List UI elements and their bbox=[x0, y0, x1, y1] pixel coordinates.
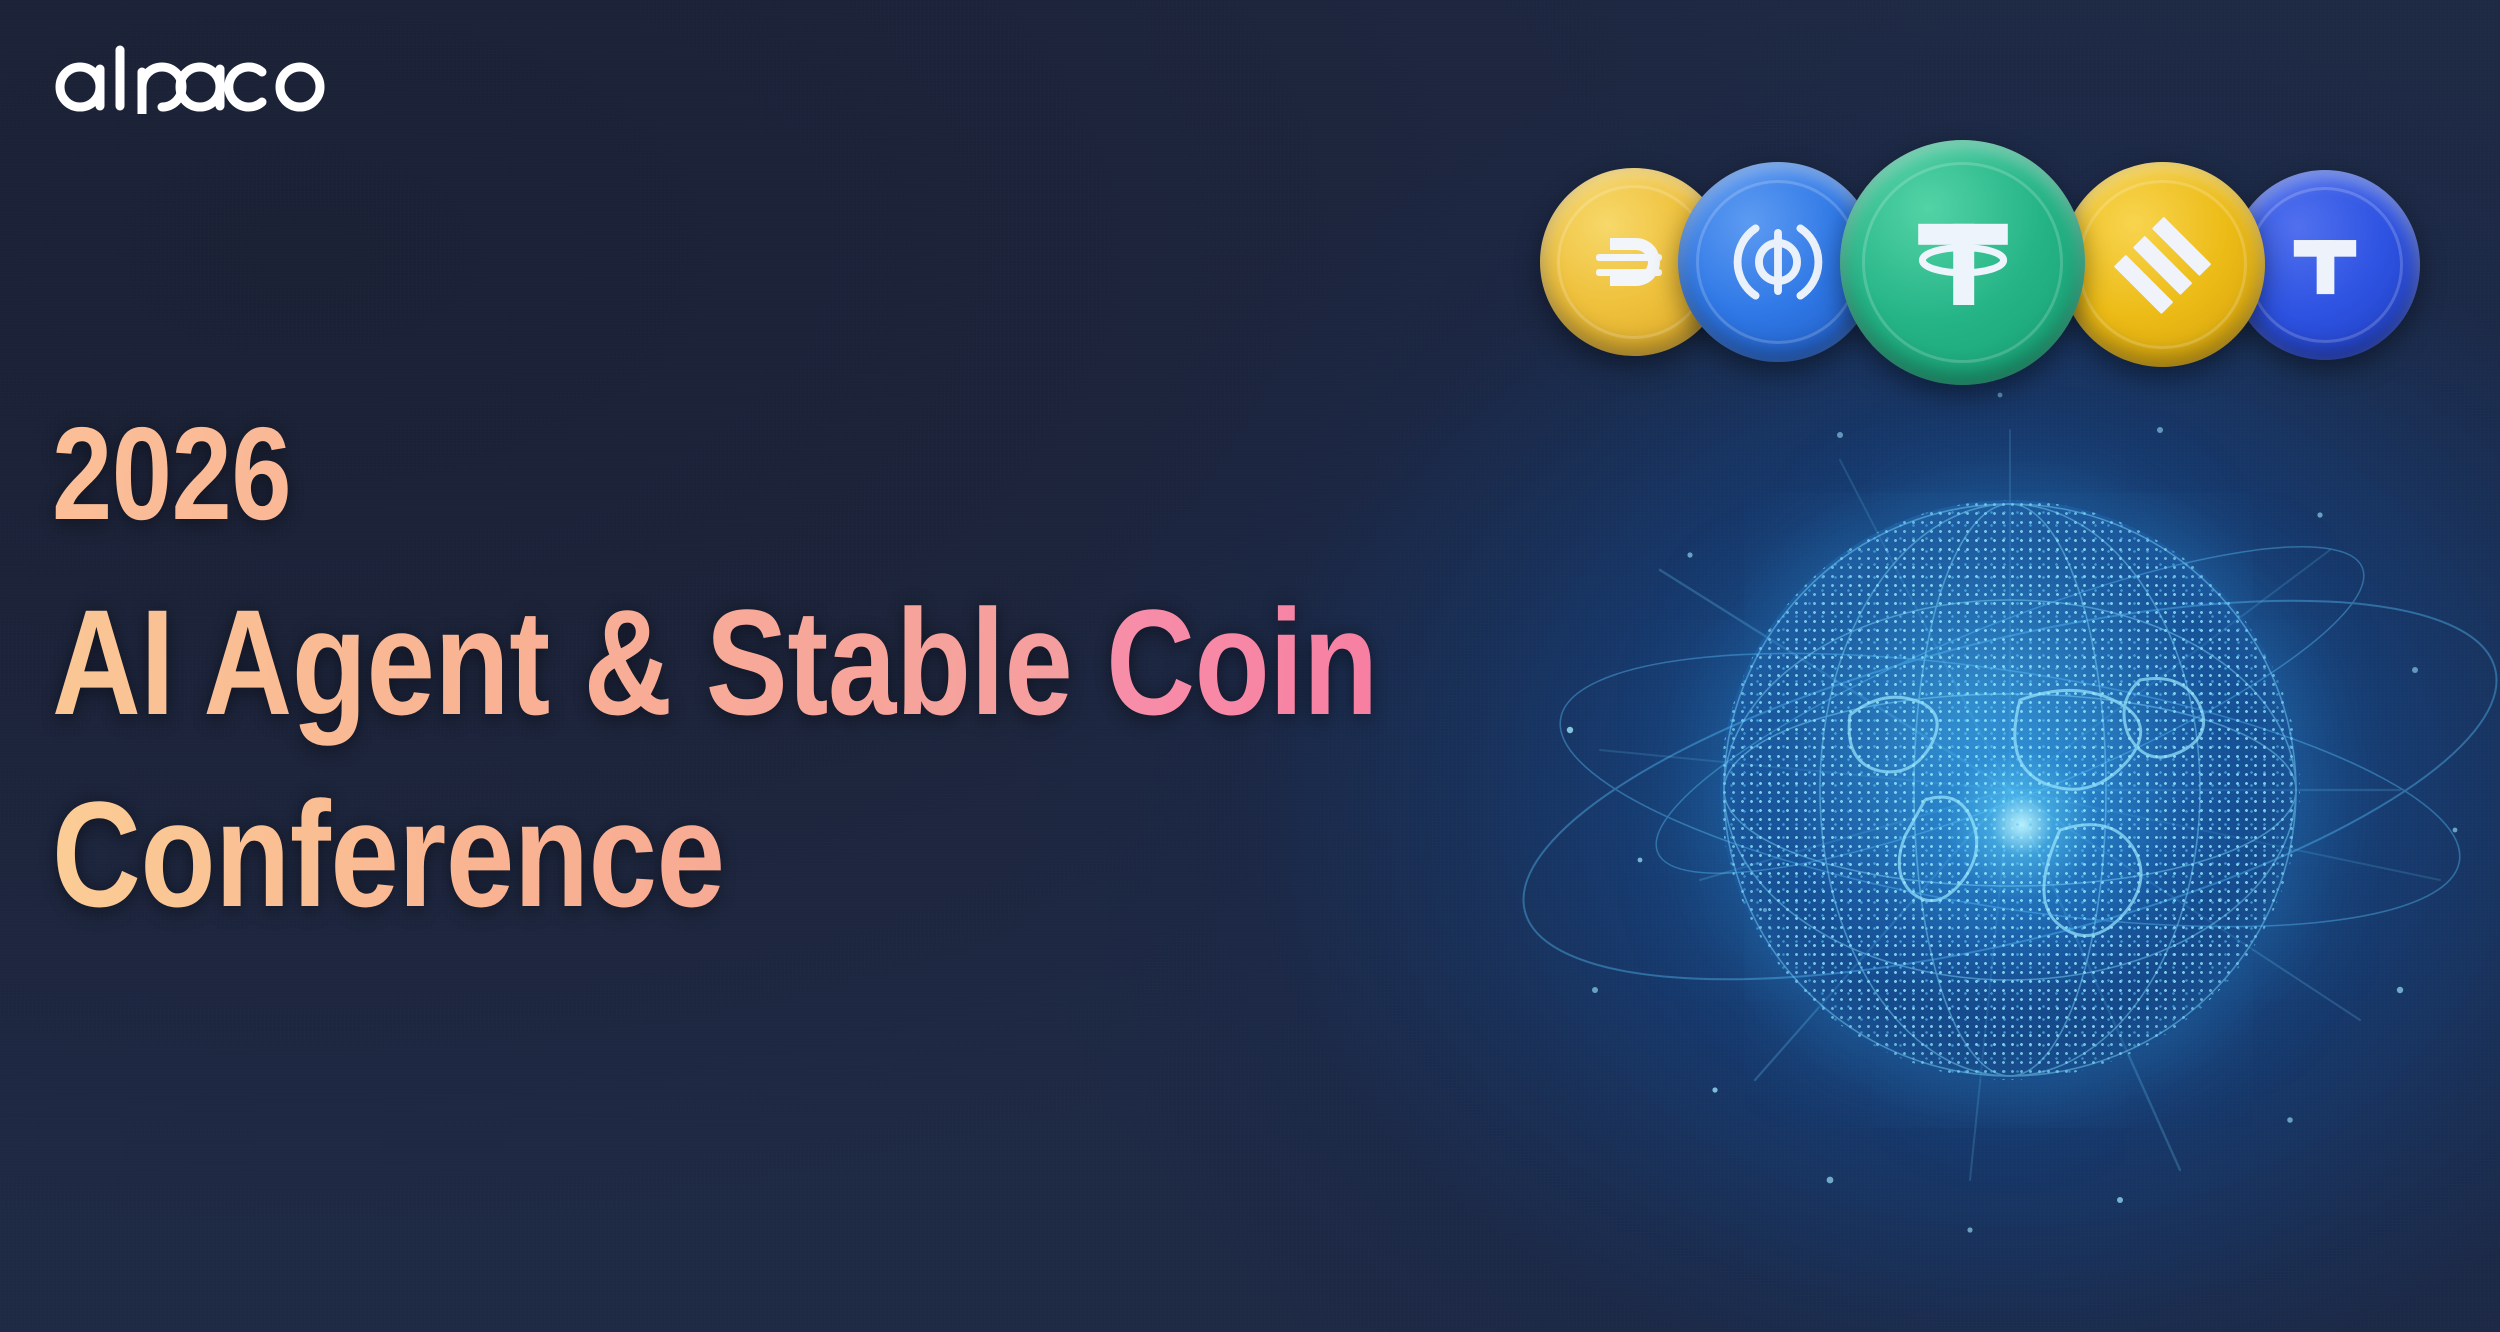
headline-block: 2026 AI Agent & Stable Coin Conference bbox=[52, 410, 1352, 927]
alpaco-wordmark-icon bbox=[50, 42, 340, 114]
stablecoin-row bbox=[1540, 140, 2480, 400]
globe-sphere bbox=[1720, 500, 2300, 1080]
dai-symbol-icon bbox=[1584, 212, 1684, 312]
trueusd-symbol-icon bbox=[2273, 213, 2377, 317]
headline-line-2: AI Agent & Stable Coin bbox=[52, 590, 1118, 736]
headline-line-3: Conference bbox=[52, 782, 1118, 928]
headline-line-2-part-2: Coin bbox=[1106, 578, 1378, 746]
digital-globe-graphic bbox=[1720, 500, 2300, 1080]
alpaco-logo[interactable] bbox=[50, 42, 340, 114]
headline-line-2-part-1: AI Agent & Stable bbox=[52, 578, 1106, 746]
tether-symbol-icon bbox=[1893, 193, 2033, 333]
globe-meridians bbox=[1720, 500, 2300, 1080]
conference-banner: 2026 AI Agent & Stable Coin Conference bbox=[0, 0, 2500, 1332]
busd-symbol-icon bbox=[2107, 209, 2219, 321]
busd-coin bbox=[2060, 162, 2265, 367]
headline-year: 2026 bbox=[52, 410, 1118, 538]
usdt-coin bbox=[1840, 140, 2085, 385]
usdc-symbol-icon bbox=[1722, 206, 1834, 318]
